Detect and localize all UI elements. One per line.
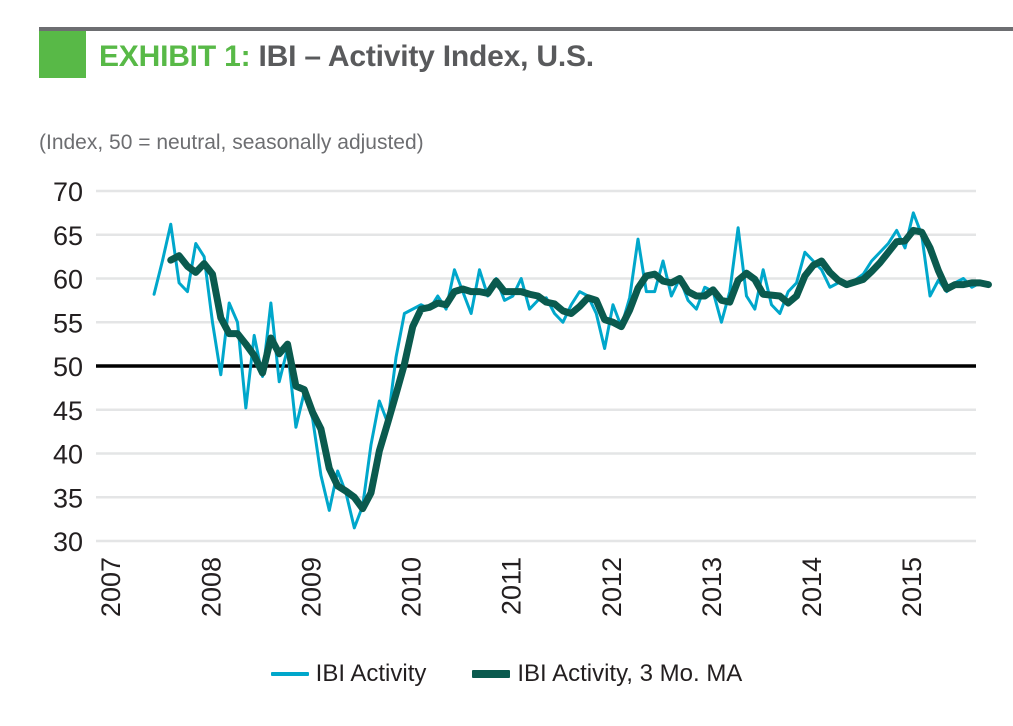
legend-label-ibi-activity-3mo-ma: IBI Activity, 3 Mo. MA bbox=[517, 660, 742, 688]
y-axis-tick-label: 40 bbox=[53, 440, 83, 470]
exhibit-chart-page: EXHIBIT 1: IBI – Activity Index, U.S. (I… bbox=[0, 0, 1013, 726]
y-axis-tick-label: 50 bbox=[53, 352, 83, 382]
x-axis-tick-label: 2015 bbox=[897, 557, 927, 617]
y-axis-tick-labels: 303540455055606570 bbox=[53, 177, 83, 557]
x-axis-tick-label: 2007 bbox=[96, 557, 126, 617]
x-axis-tick-label: 2010 bbox=[397, 557, 427, 617]
x-axis-tick-labels: 200720082009201020112012201320142015 bbox=[96, 557, 927, 617]
line-chart: 303540455055606570 200720082009201020112… bbox=[0, 0, 1013, 726]
gridlines bbox=[96, 191, 976, 541]
series-line-ibi-activity bbox=[154, 213, 988, 528]
y-axis-tick-label: 30 bbox=[53, 527, 83, 557]
x-axis-tick-label: 2014 bbox=[797, 557, 827, 617]
y-axis-tick-label: 45 bbox=[53, 396, 83, 426]
y-axis-tick-label: 60 bbox=[53, 265, 83, 295]
y-axis-tick-label: 55 bbox=[53, 308, 83, 338]
chart-legend: IBI Activity IBI Activity, 3 Mo. MA bbox=[0, 660, 1013, 688]
series-group bbox=[154, 213, 988, 528]
y-axis-tick-label: 65 bbox=[53, 221, 83, 251]
x-axis-tick-label: 2011 bbox=[497, 557, 527, 615]
x-axis-tick-label: 2013 bbox=[697, 557, 727, 617]
y-axis-tick-label: 35 bbox=[53, 483, 83, 513]
x-axis-tick-label: 2012 bbox=[597, 557, 627, 617]
legend-item-ibi-activity-3mo-ma[interactable]: IBI Activity, 3 Mo. MA bbox=[472, 660, 742, 688]
y-axis-tick-label: 70 bbox=[53, 177, 83, 207]
x-axis-tick-label: 2008 bbox=[196, 557, 226, 617]
legend-swatch-ibi-activity-3mo-ma bbox=[472, 670, 510, 678]
x-axis-tick-label: 2009 bbox=[296, 557, 326, 617]
legend-swatch-ibi-activity bbox=[271, 672, 309, 676]
legend-label-ibi-activity: IBI Activity bbox=[316, 660, 427, 688]
legend-item-ibi-activity[interactable]: IBI Activity bbox=[271, 660, 427, 688]
